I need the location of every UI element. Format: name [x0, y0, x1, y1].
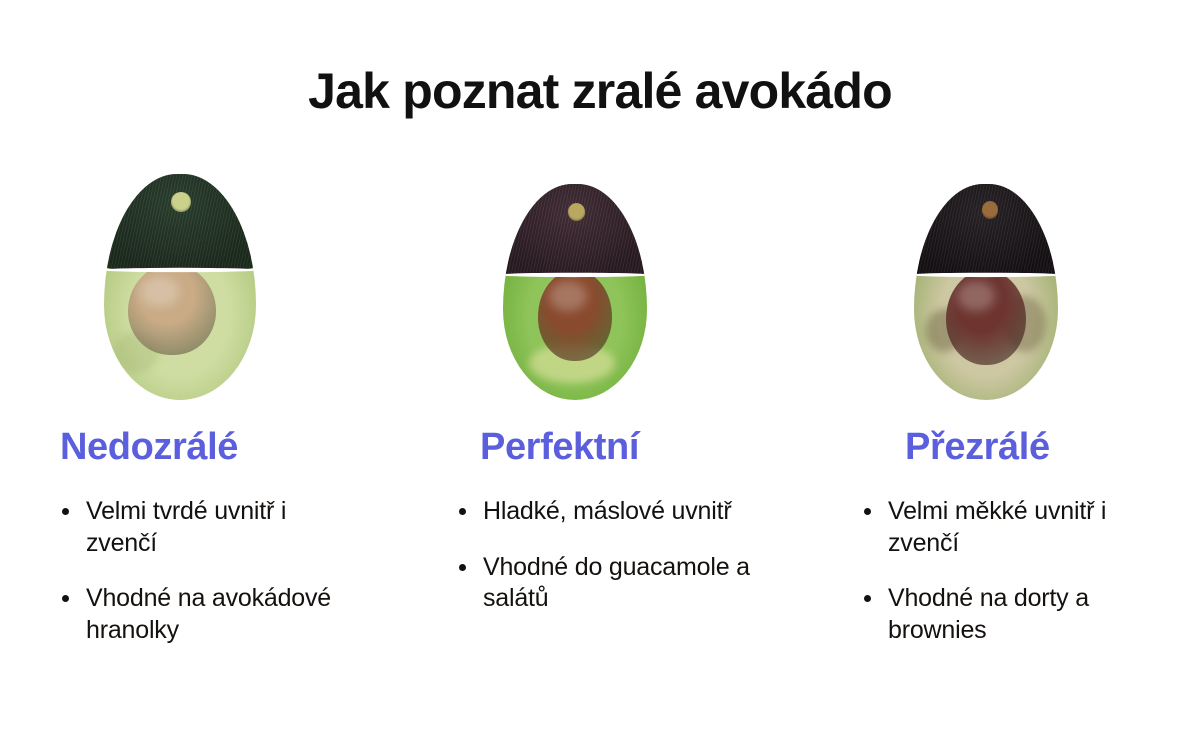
list-item: Hladké, máslové uvnitř	[455, 496, 755, 528]
category-column-perfect: Perfektní Hladké, máslové uvnitř Vhodné …	[400, 160, 800, 720]
avocado-stem-icon	[171, 192, 191, 212]
bullet-dot-icon	[62, 595, 69, 602]
list-item: Vhodné do guacamole a salátů	[455, 552, 755, 615]
category-heading-overripe: Přezrálé	[905, 428, 1050, 466]
bullet-list-unripe: Velmi tvrdé uvnitř i zvenčí Vhodné na av…	[58, 496, 358, 646]
avocado-pit-icon	[128, 264, 216, 354]
infographic-page: Jak poznat zralé avokádo	[0, 0, 1200, 750]
avocado-perfect-image	[503, 184, 647, 400]
avocado-overripe-image	[914, 184, 1058, 400]
page-title: Jak poznat zralé avokádo	[0, 62, 1200, 120]
bullet-dot-icon	[459, 508, 466, 515]
bullet-dot-icon	[459, 564, 466, 571]
category-heading-perfect: Perfektní	[480, 428, 639, 466]
avocado-stem-icon	[982, 201, 998, 218]
avocado-cut-line	[104, 267, 256, 271]
bullet-dot-icon	[864, 508, 871, 515]
bullet-list-overripe: Velmi měkké uvnitř i zvenčí Vhodné na do…	[860, 496, 1170, 646]
category-columns: Nedozrálé Velmi tvrdé uvnitř i zvenčí Vh…	[0, 160, 1200, 720]
bullet-list-perfect: Hladké, máslové uvnitř Vhodné do guacamo…	[455, 496, 755, 615]
list-item: Vhodné na avokádové hranolky	[58, 583, 358, 646]
category-column-overripe: Přezrálé Velmi měkké uvnitř i zvenčí Vho…	[800, 160, 1200, 720]
avocado-unripe-image	[104, 174, 256, 400]
bullet-dot-icon	[864, 595, 871, 602]
list-item: Vhodné na dorty a brownies	[860, 583, 1170, 646]
list-item: Velmi tvrdé uvnitř i zvenčí	[58, 496, 358, 559]
bullet-dot-icon	[62, 508, 69, 515]
list-item: Velmi měkké uvnitř i zvenčí	[860, 496, 1170, 559]
avocado-stem-icon	[568, 203, 585, 220]
category-heading-unripe: Nedozrálé	[60, 428, 238, 466]
category-column-unripe: Nedozrálé Velmi tvrdé uvnitř i zvenčí Vh…	[0, 160, 400, 720]
